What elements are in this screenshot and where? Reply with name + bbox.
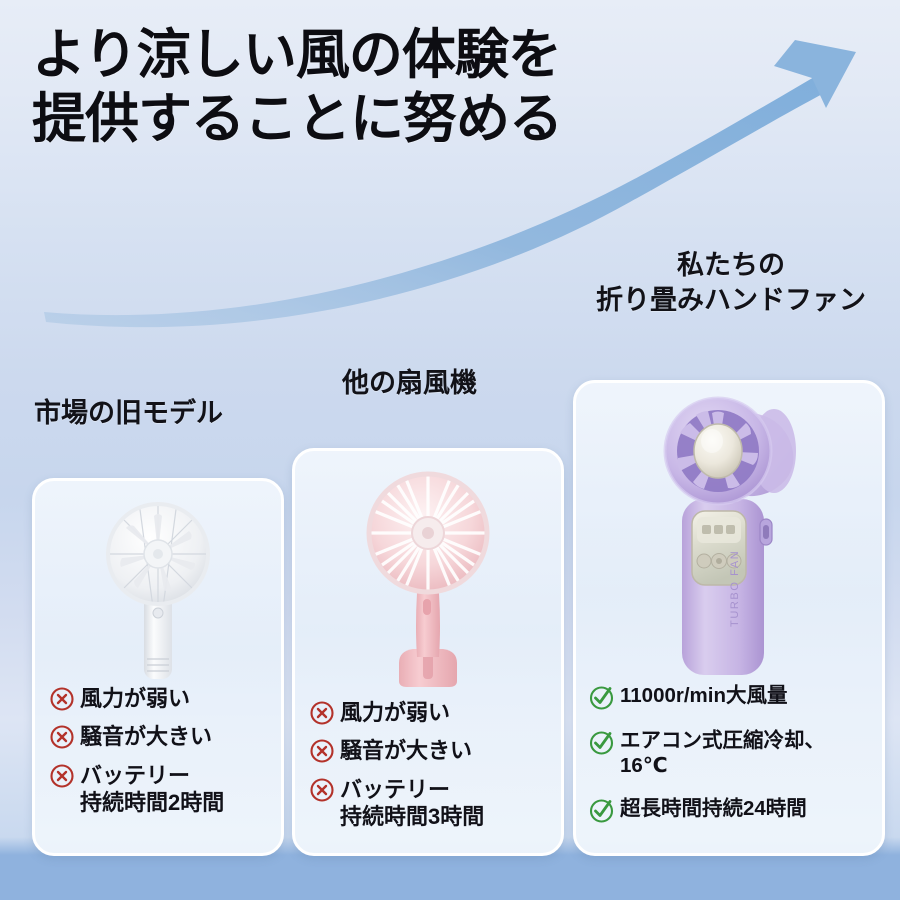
list-item-label: バッテリー 持続時間2時間 [80,762,224,817]
product-brand-label: TURBO FAN [729,550,741,627]
cross-circle-icon [309,777,335,803]
list-item: 騒音が大きい [49,723,271,750]
cross-circle-icon [49,724,75,750]
comparison-card-old-model: 風力が弱い 騒音が大きい バッテリー 持続時間2時間 [32,478,284,856]
list-item-label: 風力が弱い [80,685,190,712]
list-item: 超長時間持続24時間 [588,796,872,824]
caption-old-model: 市場の旧モデル [34,396,223,431]
caption-our-fan: 私たちの 折り畳みハンドファン [572,248,890,317]
list-item-label: 騒音が大きい [340,737,472,764]
list-item-label: バッテリー 持続時間3時間 [340,776,484,831]
bullet-list-old-model: 風力が弱い 騒音が大きい バッテリー 持続時間2時間 [49,685,271,816]
list-item: バッテリー 持続時間2時間 [49,762,271,817]
list-item: 11000r/min大風量 [588,683,872,711]
bullet-list-other-fans: 風力が弱い 騒音が大きい バッテリー 持続時間3時間 [309,699,551,830]
list-item: 風力が弱い [309,699,551,726]
check-circle-icon [588,684,615,711]
cross-circle-icon [49,686,75,712]
product-image-white-fan [35,495,281,681]
cross-circle-icon [309,700,335,726]
page-title: より涼しい風の体験を 提供することに努める [32,24,562,151]
check-circle-icon [588,729,615,756]
bullet-list-our-fan: 11000r/min大風量 エアコン式圧縮冷却、16℃ 超長時間持続24時間 [588,683,872,841]
check-circle-icon [588,797,615,824]
caption-other-fans: 他の扇風機 [342,366,477,401]
headline-line-1: より涼しい風の体験を [32,25,561,85]
product-comparison-poster: より涼しい風の体験を 提供することに努める 市場の旧モデル 他の扇風機 私たちの… [0,0,900,900]
list-item-label: 超長時間持続24時間 [620,796,807,821]
list-item: バッテリー 持続時間3時間 [309,776,551,831]
list-item-label: エアコン式圧縮冷却、16℃ [620,728,872,779]
cross-circle-icon [309,738,335,764]
product-image-purple-turbo-fan: TURBO FAN [576,393,882,679]
list-item-label: 11000r/min大風量 [620,683,788,708]
comparison-card-other-fans: 風力が弱い 騒音が大きい バッテリー 持続時間3時間 [292,448,564,856]
cross-circle-icon [49,763,75,789]
product-image-pink-fan [295,463,561,693]
list-item-label: 騒音が大きい [80,723,212,750]
list-item-label: 風力が弱い [340,699,450,726]
list-item: 風力が弱い [49,685,271,712]
list-item: 騒音が大きい [309,737,551,764]
list-item: エアコン式圧縮冷却、16℃ [588,728,872,779]
headline-line-2: 提供することに努める [32,89,562,149]
comparison-card-our-fan: TURBO FAN [573,380,885,856]
